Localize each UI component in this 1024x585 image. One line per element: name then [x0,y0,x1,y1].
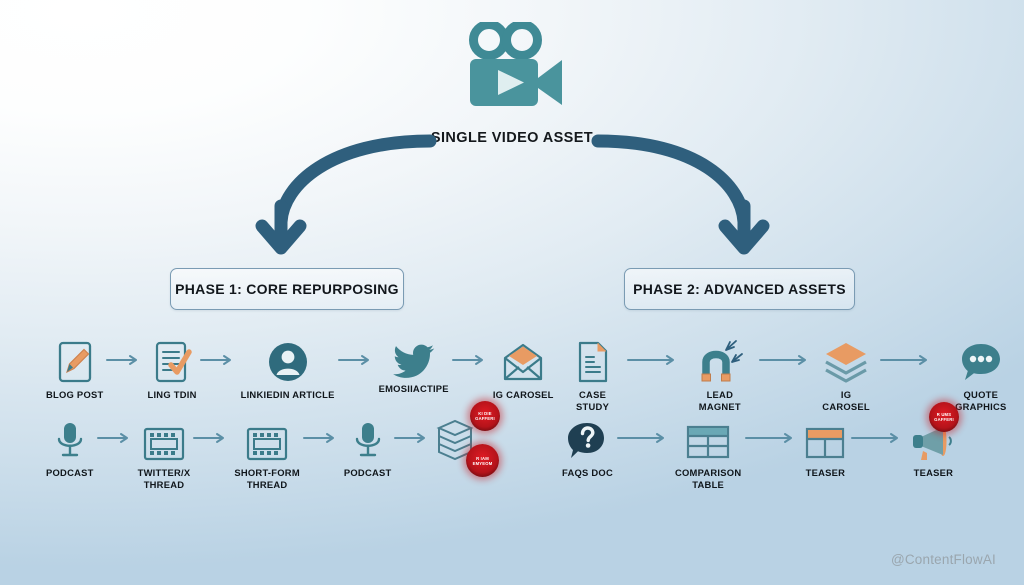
node-podcast-2[interactable]: PODCAST [344,414,392,479]
flow-arrow [876,336,938,384]
node-label: BLOG POST [46,389,103,401]
node-label: SHORT-FORM THREAD [234,467,300,490]
node-faqs-doc[interactable]: FAQS DOC [562,414,613,479]
node-ig-carousel-envelope[interactable]: IG CAROSEL [493,336,554,401]
node-podcast-1[interactable]: PODCAST [46,414,94,479]
document-pencil-icon [55,336,95,384]
magnet-icon [696,336,744,384]
film-strip-icon [245,414,289,462]
node-label: LEAD MAGNET [685,389,754,412]
page-title: SINGLE VIDEO ASSET [0,130,1024,146]
node-label: COMPARISON TABLE [675,467,741,490]
twitter-bird-icon [392,334,436,382]
flow-arrow [623,336,685,384]
badge-left-top: KI DIE GAFFERI [470,401,500,431]
node-label: TEASER [914,467,954,479]
node-label: EMOSIIACTIPE [379,383,449,395]
node-blog-post[interactable]: BLOG POST [46,336,103,401]
node-comparison-table[interactable]: COMPARISON TABLE [675,414,741,490]
flow-arrow [391,414,435,462]
flow-arrow [741,414,803,462]
badge-right-top: R UMS GAFFERI [929,402,959,432]
phase-2-box[interactable]: PHASE 2: ADVANCED ASSETS [624,268,855,310]
user-avatar-icon [266,336,310,384]
video-camera-icon [462,22,567,114]
phase-1-box[interactable]: PHASE 1: CORE REPURPOSING [170,268,404,310]
flow-arrow [613,414,675,462]
node-linkedin-checklist[interactable]: LING TDIN [147,336,196,401]
node-label: TWITTER/X THREAD [138,467,191,490]
phase2-row1: CASE STUDY LEAD MAGNET [562,336,1024,412]
film-strip-icon [142,414,186,462]
node-case-study[interactable]: CASE STUDY [562,336,623,412]
question-bubble-icon [565,414,609,462]
node-quote-graphics[interactable]: QUOTE GRAPHICS [938,336,1024,412]
node-label: TEASER [806,467,846,479]
node-twitter-x-thread[interactable]: TWITTER/X THREAD [138,414,191,490]
node-label: LING TDIN [147,389,196,401]
infographic-canvas: SINGLE VIDEO ASSET PHASE 1: CORE REPURPO… [0,0,1024,585]
microphone-icon [52,414,88,462]
flow-arrow [300,414,344,462]
node-lead-magnet[interactable]: LEAD MAGNET [685,336,754,412]
node-ig-carousel-layers[interactable]: IG CAROSEL [817,336,876,412]
node-teaser-layout[interactable]: TEASER [803,414,847,479]
watermark: @ContentFlowAI [891,552,996,567]
node-label: PODCAST [344,467,392,479]
node-label: CASE STUDY [562,389,623,412]
node-label: LINKIEDIN ARTICLE [241,389,335,401]
flow-arrow [335,336,379,384]
flow-arrow [755,336,817,384]
checklist-document-icon [151,336,193,384]
phase1-row2: PODCAST TWITTER/X THREAD [46,414,475,490]
phase1-row1: BLOG POST LING TDIN [46,336,554,401]
layers-carousel-icon [822,336,870,384]
flow-arrow [197,336,241,384]
node-linkedin-article[interactable]: LINKIEDIN ARTICLE [241,336,335,401]
document-lines-icon [574,336,612,384]
phase2-row2: FAQS DOC COMPARISON TABLE [562,414,957,490]
flow-arrow [94,414,138,462]
open-envelope-icon [499,336,547,384]
layout-table-icon [803,414,847,462]
comparison-table-icon [684,414,732,462]
node-emosiiactipe[interactable]: EMOSIIACTIPE [379,334,449,395]
node-label: IG CAROSEL [817,389,876,412]
speech-bubble-icon [958,336,1004,384]
flow-arrow [103,336,147,384]
microphone-icon [350,414,386,462]
node-short-form-thread[interactable]: SHORT-FORM THREAD [234,414,300,490]
badge-left-bottom: R IAM EMYEOM [466,444,499,477]
flow-arrow [190,414,234,462]
flow-arrow [449,336,493,384]
flow-arrow [847,414,909,462]
node-label: FAQS DOC [562,467,613,479]
node-label: IG CAROSEL [493,389,554,401]
node-label: PODCAST [46,467,94,479]
